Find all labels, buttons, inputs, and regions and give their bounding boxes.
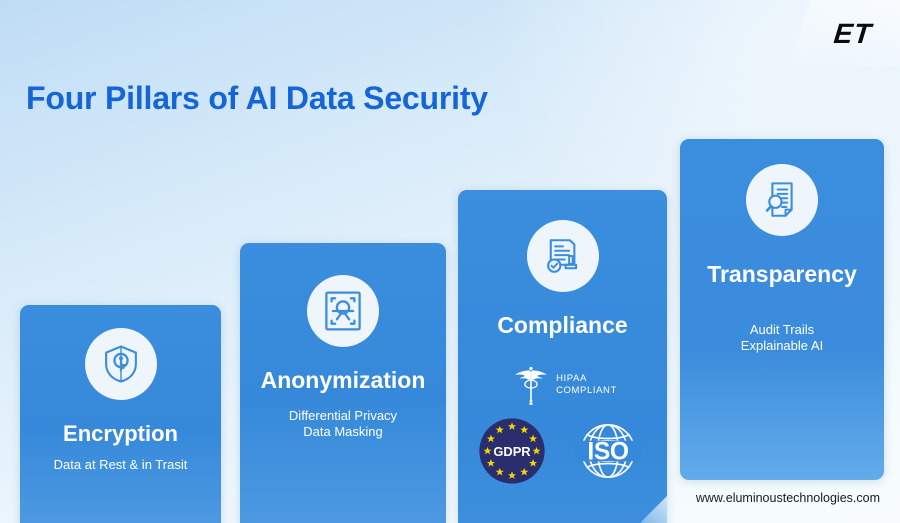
- page-title: Four Pillars of AI Data Security: [26, 80, 488, 117]
- caduceus-icon: [512, 362, 550, 408]
- badge-hipaa-line: COMPLIANT: [556, 385, 617, 397]
- pillar-title: Transparency: [680, 261, 884, 288]
- pillar-subtitle-line: Audit Trails: [680, 322, 884, 338]
- eu-stars-circle-icon: GDPR: [478, 417, 546, 485]
- globe-icon: ISO: [568, 420, 648, 482]
- badge-iso: ISO: [568, 420, 648, 482]
- pillar-subtitle: Data at Rest & in Trasit: [20, 457, 221, 473]
- badge-gdpr: GDPR: [478, 417, 546, 485]
- badge-hipaa: HIPAA COMPLIANT: [458, 362, 667, 408]
- face-scan-frame-icon: [307, 275, 379, 347]
- pillar-subtitle: Audit Trails Explainable AI: [680, 322, 884, 354]
- pillar-subtitle-line: Data Masking: [240, 424, 446, 440]
- pillar-card-transparency[interactable]: Transparency Audit Trails Explainable AI: [680, 139, 884, 480]
- pillar-title: Anonymization: [240, 367, 446, 394]
- shield-key-icon: [85, 328, 157, 400]
- card-corner-accent: [633, 496, 667, 523]
- badge-hipaa-text: HIPAA COMPLIANT: [556, 373, 617, 397]
- website-url[interactable]: www.eluminoustechnologies.com: [696, 491, 880, 505]
- badge-iso-label: ISO: [587, 439, 628, 466]
- pillar-card-encryption[interactable]: Encryption Data at Rest & in Trasit: [20, 305, 221, 523]
- brand-logo: ET: [833, 18, 874, 50]
- pillar-title: Encryption: [20, 421, 221, 447]
- pillar-card-compliance[interactable]: Compliance HIPAA COMPLIANT: [458, 190, 667, 523]
- certification-badge-row: GDPR: [458, 417, 667, 485]
- badge-hipaa-line: HIPAA: [556, 373, 617, 385]
- pillar-title: Compliance: [458, 312, 667, 339]
- pillar-subtitle-line: Differential Privacy: [240, 408, 446, 424]
- pillar-subtitle-line: Explainable AI: [680, 338, 884, 354]
- pillar-card-anonymization[interactable]: Anonymization Differential Privacy Data …: [240, 243, 446, 523]
- pillar-subtitle: Differential Privacy Data Masking: [240, 408, 446, 440]
- infographic-canvas: ET Four Pillars of AI Data Security Encr…: [0, 0, 900, 523]
- document-magnifier-icon: [746, 164, 818, 236]
- document-stamp-check-icon: [527, 220, 599, 292]
- compliance-badges: HIPAA COMPLIANT: [458, 362, 667, 485]
- badge-gdpr-label: GDPR: [493, 444, 531, 459]
